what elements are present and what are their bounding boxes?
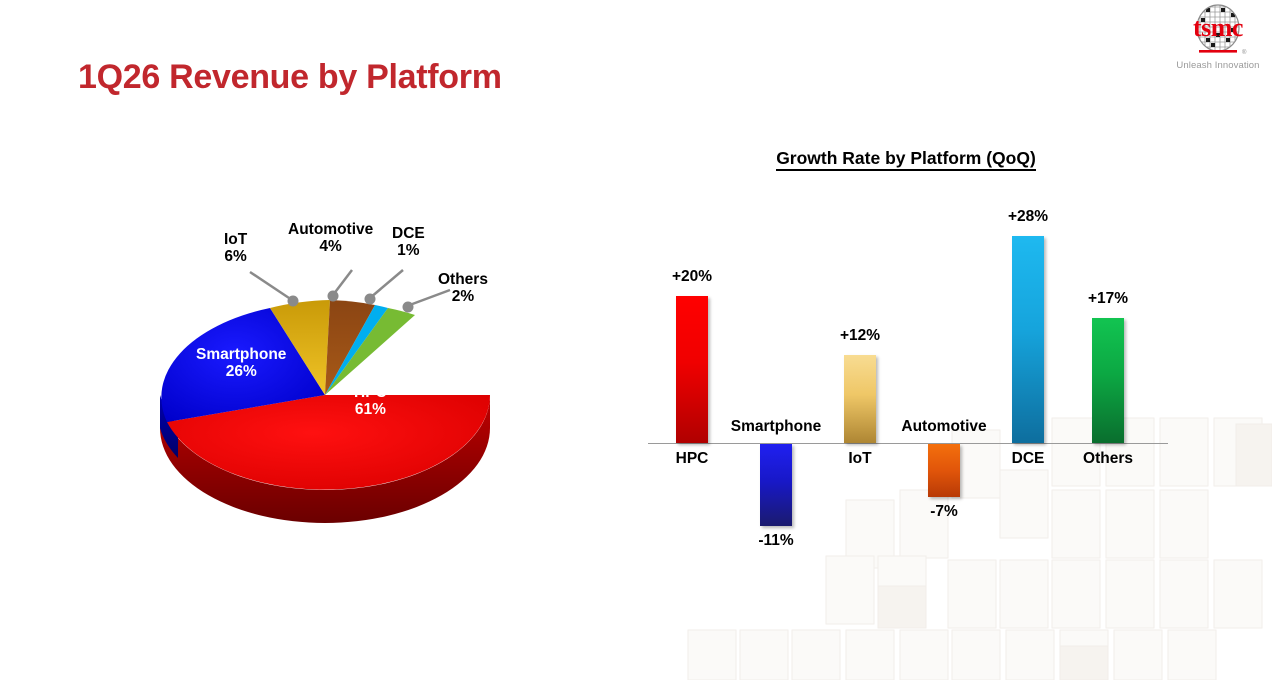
pie-svg [120, 210, 560, 540]
pie-callout-dce-name: DCE [392, 226, 425, 243]
bar-hpc[interactable] [676, 296, 708, 443]
bar-value-others: +17% [1088, 290, 1128, 308]
tsmc-logo-icon: tsmc ® [1170, 4, 1266, 62]
pie-callout-automotive-percent: 4% [288, 239, 373, 256]
pie-callout-others: Others 2% [438, 272, 488, 305]
pie-callout-others-percent: 2% [438, 289, 488, 306]
slide-canvas: tsmc ® Unleash Innovation 1Q26 Revenue b… [0, 0, 1272, 680]
pie-callout-dce-percent: 1% [392, 243, 425, 260]
pie-leader-lines [250, 270, 450, 306]
svg-text:tsmc: tsmc [1193, 13, 1243, 42]
pie-label-hpc-percent: 61% [354, 401, 387, 418]
bar-category-iot: IoT [848, 450, 871, 468]
bar-group-iot: +12% IoT [844, 140, 876, 570]
pie-callout-iot-name: IoT [224, 232, 247, 249]
pie-callout-iot-percent: 6% [224, 249, 247, 266]
pie-label-smartphone-percent: 26% [196, 363, 286, 380]
bar-group-smartphone: -11% Smartphone [760, 140, 792, 570]
bar-group-hpc: +20% HPC [676, 140, 708, 570]
bar-category-automotive: Automotive [901, 418, 986, 436]
svg-text:®: ® [1242, 49, 1247, 56]
pie-label-smartphone-name: Smartphone [196, 346, 286, 363]
page-title: 1Q26 Revenue by Platform [78, 58, 502, 97]
bar-others[interactable] [1092, 318, 1124, 443]
bar-value-dce: +28% [1008, 208, 1048, 226]
bar-category-dce: DCE [1012, 450, 1045, 468]
pie-label-hpc: HPC 61% [354, 384, 387, 419]
bar-category-smartphone: Smartphone [731, 418, 821, 436]
bar-category-hpc: HPC [676, 450, 709, 468]
bar-category-others: Others [1083, 450, 1133, 468]
pie-callout-dce: DCE 1% [392, 226, 425, 259]
bar-chart-axis [648, 443, 1168, 444]
tsmc-logo: tsmc ® Unleash Innovation [1170, 4, 1266, 76]
bar-smartphone[interactable] [760, 444, 792, 526]
bar-value-hpc: +20% [672, 268, 712, 286]
pie-callout-iot: IoT 6% [224, 232, 247, 265]
revenue-pie-chart: IoT 6% Automotive 4% DCE 1% Others 2% Sm… [120, 210, 560, 540]
pie-label-smartphone: Smartphone 26% [196, 346, 286, 381]
pie-callout-others-name: Others [438, 272, 488, 289]
bar-value-iot: +12% [840, 327, 880, 345]
bar-group-automotive: -7% Automotive [928, 140, 960, 570]
bar-chart-title-text: Growth Rate by Platform (QoQ) [776, 148, 1036, 171]
bar-value-smartphone: -11% [758, 532, 793, 550]
bar-iot[interactable] [844, 355, 876, 443]
bar-dce[interactable] [1012, 236, 1044, 443]
pie-callout-automotive-name: Automotive [288, 222, 373, 239]
bar-group-others: +17% Others [1092, 140, 1124, 570]
bar-automotive[interactable] [928, 444, 960, 497]
pie-label-hpc-name: HPC [354, 384, 387, 401]
logo-tagline: Unleash Innovation [1170, 60, 1266, 71]
growth-rate-bar-chart: Growth Rate by Platform (QoQ) +20% HPC -… [636, 140, 1176, 570]
pie-callout-automotive: Automotive 4% [288, 222, 373, 255]
bar-group-dce: +28% DCE [1012, 140, 1044, 570]
bar-value-automotive: -7% [930, 503, 958, 521]
